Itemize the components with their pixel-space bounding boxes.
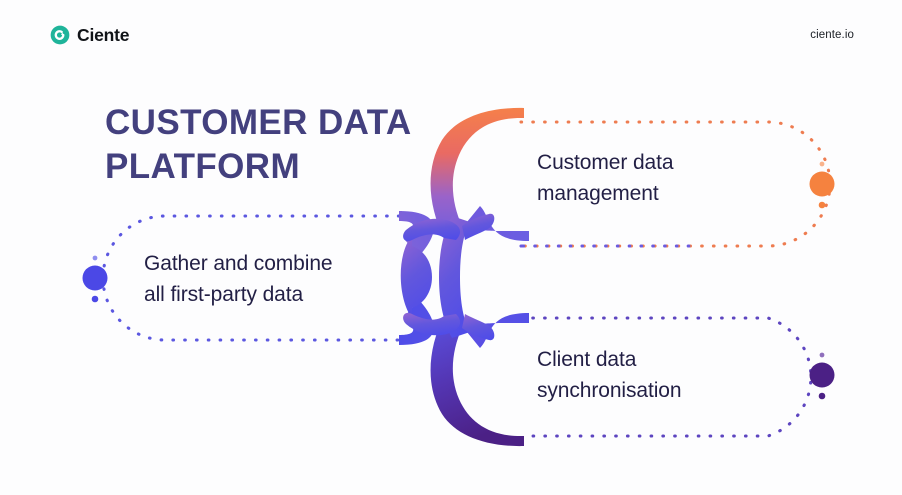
branch-arm-right-lower (467, 313, 529, 348)
node-label-top-right-line-1: Customer data (537, 147, 777, 178)
branch-arm-right-upper (467, 206, 529, 241)
mindmap-graphic (0, 0, 902, 495)
brand-name: Ciente (77, 25, 129, 46)
branch-arm-bottom (431, 316, 524, 446)
node-label-left-line-1: Gather and combine (144, 248, 404, 279)
endpoint-dot-bottom-right[interactable] (810, 353, 835, 400)
ciente-circle-arrow-icon (49, 24, 71, 46)
branch-central-stem (401, 216, 470, 338)
node-label-bottom-right-line-1: Client data (537, 344, 777, 375)
page-title-line-2: PLATFORM (105, 145, 505, 189)
branch-junction-top (403, 214, 494, 241)
page-title: CUSTOMER DATA PLATFORM (105, 101, 505, 189)
endpoint-dot-left[interactable] (83, 256, 108, 303)
branch-junction-bottom (403, 313, 494, 340)
node-label-bottom-right: Client data synchronisation (537, 344, 777, 406)
brand-logo[interactable]: Ciente (49, 24, 129, 46)
node-label-top-right-line-2: management (537, 178, 777, 209)
node-label-left: Gather and combine all first-party data (144, 248, 404, 310)
slide-canvas: Ciente ciente.io CUSTOMER DATA PLATFORM (0, 0, 902, 495)
endpoint-dot-top-right[interactable] (810, 162, 835, 209)
node-label-top-right: Customer data management (537, 147, 777, 209)
node-label-left-line-2: all first-party data (144, 279, 404, 310)
branch-arm-left-upper (399, 211, 434, 256)
page-title-line-1: CUSTOMER DATA (105, 103, 412, 142)
site-url[interactable]: ciente.io (810, 29, 854, 41)
node-label-bottom-right-line-2: synchronisation (537, 375, 777, 406)
branch-arm-left-lower (399, 300, 434, 345)
